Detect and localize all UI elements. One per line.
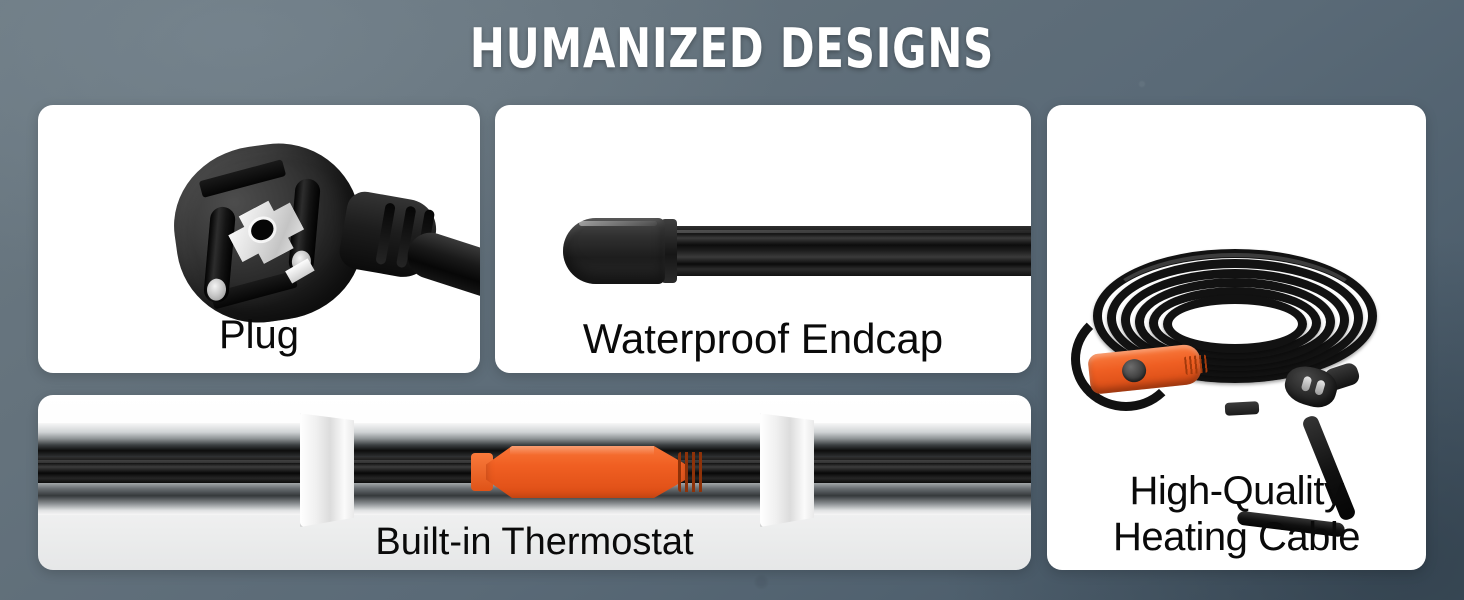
poster-title: HUMANIZED DESIGNS <box>102 18 1361 80</box>
endcap-flat-cable <box>673 226 1031 276</box>
card-caption-thermostat: Built-in Thermostat <box>38 520 1031 564</box>
cable-clamp-left <box>300 411 354 527</box>
thermostat-button <box>1121 358 1147 383</box>
endcap-sealed-tip <box>563 218 665 284</box>
card-caption-heating-cable: High-Quality Heating Cable <box>1047 468 1426 560</box>
product-feature-poster: HUMANIZED DESIGNS Plug <box>0 0 1464 600</box>
cable-clamp-right <box>760 411 814 527</box>
inline-thermostat-module <box>486 441 686 503</box>
card-caption-endcap: Waterproof Endcap <box>495 317 1031 361</box>
thermostat-ribs <box>1184 355 1208 375</box>
feature-card-thermostat: Built-in Thermostat <box>38 395 1031 570</box>
caption-line-1: High-Quality <box>1047 468 1426 514</box>
thermostat-strain-relief-ribs <box>678 452 704 492</box>
caption-line-2: Heating Cable <box>1047 514 1426 560</box>
feature-card-plug: Plug <box>38 105 480 373</box>
feature-card-heating-cable: High-Quality Heating Cable <box>1047 105 1426 570</box>
feature-card-endcap: Waterproof Endcap <box>495 105 1031 373</box>
card-caption-plug: Plug <box>38 313 480 357</box>
coil-cable-tie <box>1225 401 1260 416</box>
